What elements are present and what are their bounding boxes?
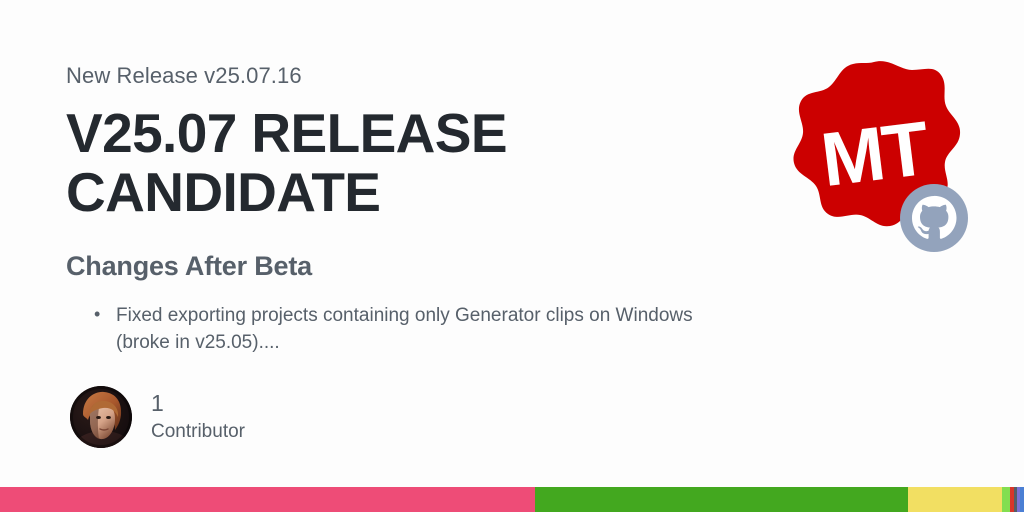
segment-pink	[0, 487, 535, 512]
eyebrow-new-release: New Release v25.07.16	[66, 62, 746, 90]
page-title: v25.07 RELEASE CANDIDATE	[66, 104, 536, 222]
logo-block: MT	[782, 56, 968, 252]
list-item: Fixed exporting projects containing only…	[116, 302, 696, 356]
contributors-block: 1 Contributor	[70, 386, 245, 448]
changes-list: Fixed exporting projects containing only…	[66, 302, 746, 356]
logo-text: MT	[817, 106, 934, 203]
segment-lightgreen	[1002, 487, 1010, 512]
release-social-card: New Release v25.07.16 v25.07 RELEASE CAN…	[0, 0, 1024, 512]
logo-wordmark: MT	[817, 106, 934, 203]
contributor-text: 1 Contributor	[151, 390, 245, 445]
release-content: New Release v25.07.16 v25.07 RELEASE CAN…	[66, 62, 746, 356]
mt-blob-logo: MT	[782, 56, 968, 252]
language-color-bar	[0, 487, 1024, 512]
contributor-label: Contributor	[151, 419, 245, 445]
segment-yellow	[908, 487, 1002, 512]
avatar[interactable]	[70, 386, 132, 448]
github-octocat-icon	[900, 184, 968, 252]
contributor-count: 1	[151, 390, 245, 417]
segment-blue	[1020, 487, 1024, 512]
section-heading-changes-after-beta: Changes After Beta	[66, 250, 746, 282]
segment-green	[535, 487, 908, 512]
avatar-portrait-image	[70, 386, 132, 448]
